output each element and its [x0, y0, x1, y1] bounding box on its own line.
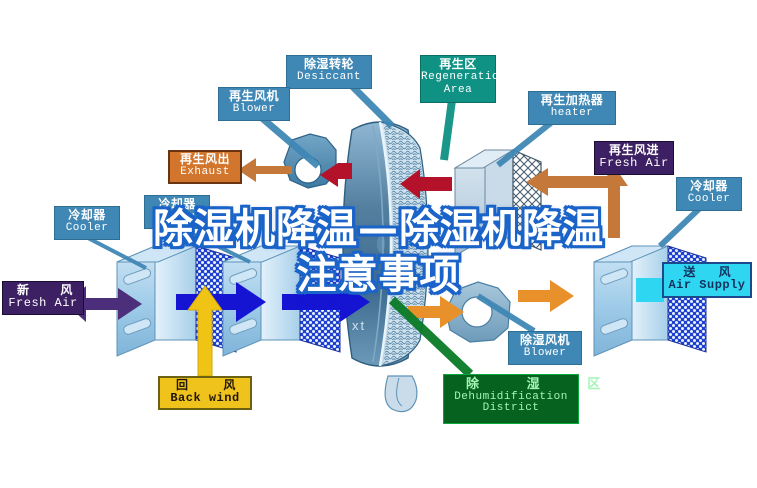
label-cn: 冷却器 — [145, 198, 209, 211]
label-dehumidification-district: 除 湿 区 Dehumidification District — [443, 374, 579, 424]
label-en: heater — [529, 107, 615, 119]
label-en: Fresh Air — [595, 157, 673, 170]
label-cn: 再生风出 — [170, 153, 240, 166]
label-cn: 除湿转轮 — [287, 58, 371, 71]
label-desiccant-wheel: 除湿转轮 Desiccant — [286, 55, 372, 89]
label-cn: 除 湿 区 — [444, 377, 578, 392]
label-regeneration-blower: 再生风机 Blower — [218, 87, 290, 121]
label-cooler-left-front: 冷却器 Cooler — [54, 206, 120, 240]
label-cn: 新 风 — [3, 284, 83, 297]
label-regeneration-heater: 再生加热器 heater — [528, 91, 616, 125]
regen-heater-coil — [455, 150, 541, 256]
watermark-text: xt — [352, 318, 366, 333]
label-regeneration-area: 再生区 Regeneration Area — [420, 55, 496, 103]
label-dehumidification-blower: 除湿风机 Blower — [508, 331, 582, 365]
label-en: Back wind — [160, 392, 250, 405]
label-back-wind-inlet: 回 风 Back wind — [158, 376, 252, 410]
label-regeneration-exhaust: 再生风出 Exhaust — [168, 150, 242, 184]
label-en: Air Supply — [664, 279, 750, 292]
schematic-artwork — [0, 0, 757, 488]
label-en: Cooler — [677, 193, 741, 205]
label-cn: 冷却器 — [677, 180, 741, 193]
label-en: Exhaust — [170, 166, 240, 178]
label-cn: 冷却器 — [55, 209, 119, 222]
diagram-canvas: 除湿转轮 Desiccant 再生风机 Blower 再生风出 Exhaust … — [0, 0, 757, 488]
label-cn: 送 风 — [664, 266, 750, 279]
label-cooler-left-back: 冷却器 Cooler — [144, 195, 210, 229]
label-air-supply-outlet: 送 风 Air Supply — [662, 262, 752, 298]
label-en: Blower — [219, 103, 289, 115]
label-en: Blower — [509, 347, 581, 359]
label-en: Cooler — [55, 222, 119, 234]
dry-air-arrow-2 — [518, 280, 574, 312]
label-en: Cooler — [145, 211, 209, 223]
label-fresh-air-inlet: 新 风 Fresh Air — [2, 281, 84, 315]
label-cn: 再生风机 — [219, 90, 289, 103]
label-regeneration-fresh-air: 再生风进 Fresh Air — [594, 141, 674, 175]
label-cn: 回 风 — [160, 379, 250, 392]
label-en: Dehumidification District — [444, 392, 578, 415]
desiccant-rotor — [343, 122, 428, 412]
label-cooler-right: 冷却器 Cooler — [676, 177, 742, 211]
label-en: Desiccant — [287, 71, 371, 83]
label-cn: 再生加热器 — [529, 94, 615, 107]
label-en: Regeneration Area — [421, 71, 495, 96]
label-en: Fresh Air — [3, 297, 83, 310]
label-cn: 再生风进 — [595, 144, 673, 157]
label-cn: 再生区 — [421, 58, 495, 71]
label-cn: 除湿风机 — [509, 334, 581, 347]
